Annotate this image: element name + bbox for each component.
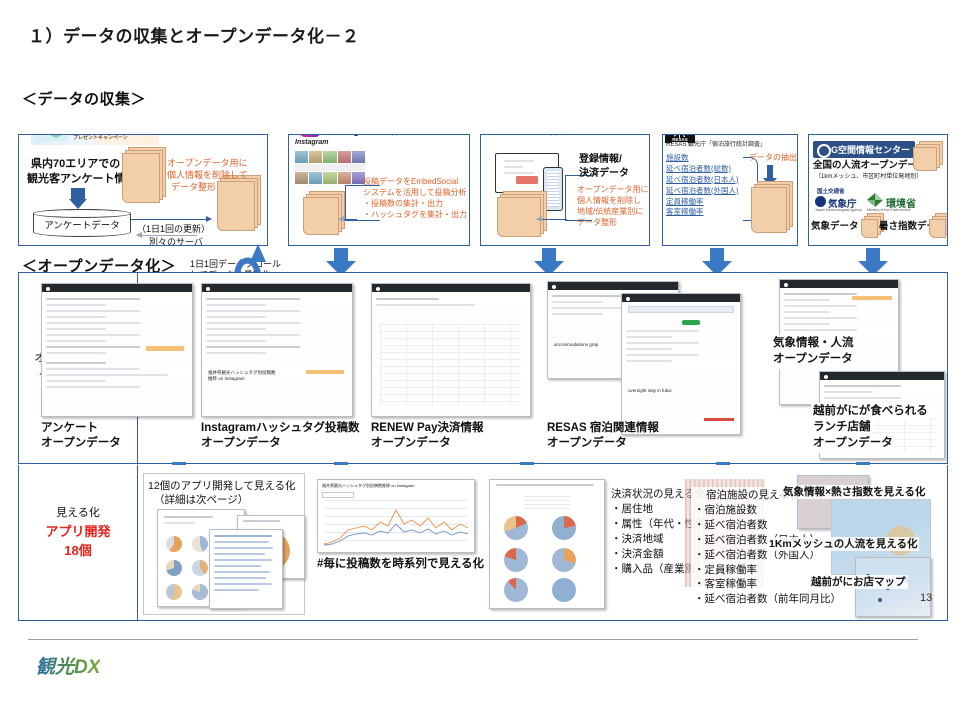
questionnaire-headline-2: 観光客アンケート情報	[27, 172, 137, 187]
arrow-to-instagram-papers	[339, 219, 357, 220]
thumb-table-grid	[380, 324, 520, 406]
vis-weather-caption: 気象情報×熱さ指数を見える化	[781, 485, 927, 499]
opendata-frame: GitHub上に オープンデータ化 データセット 7個 アンケート オープンデー…	[18, 272, 948, 464]
thumb-titlebar	[622, 294, 740, 302]
instagram-icon	[299, 135, 321, 137]
visualization-label-count: 18個	[8, 541, 148, 561]
vis-payment-pie-5	[504, 578, 528, 602]
dataset-caption-weather-2: オープンデータ	[771, 351, 855, 369]
resas-item-list: 施設数 延べ宿泊者数(総数) 延べ宿泊者数(日本人) 延べ宿泊者数(外国人) 定…	[666, 153, 739, 218]
arrow-head-to-db	[69, 199, 87, 209]
app-pie-3	[166, 560, 182, 576]
renewpay-process-3: 地域/伝統産業別に	[577, 207, 643, 218]
moe-logo-icon	[867, 193, 883, 207]
app-thumb-lines	[214, 535, 278, 595]
resas-extract-note: データの抽出	[749, 153, 797, 164]
paper-stack-2	[217, 181, 253, 229]
dataset-caption-renewpay-1: RENEW Pay決済情報	[371, 421, 483, 437]
visualization-label-highlight: アプリ開発	[8, 522, 148, 542]
collection-row: 植えて HAPPINESS プレゼントキャンペーン 県内70エリアでの 観光客ア…	[18, 108, 946, 246]
resas-item-0[interactable]: 施設数	[666, 153, 739, 164]
thumb-titlebar	[548, 282, 678, 290]
server-note: 別々のサーバ	[149, 236, 203, 245]
dataset-caption-renewpay-2: オープンデータ	[371, 436, 451, 452]
dataset-caption-crab-3: オープンデータ	[811, 435, 895, 453]
app-pie-1	[166, 536, 182, 552]
visualization-label-line1: 見える化	[8, 505, 148, 522]
thumb-titlebar	[780, 280, 898, 288]
apps-note-line2: （詳細は次ページ）	[154, 493, 248, 507]
source-box-instagram: #わたしの好きな福井県 Instagram 投稿キャンペーン Instagram	[288, 134, 470, 246]
app-pie-2	[192, 536, 208, 552]
renewpay-process-2: 個人情報を削除し	[577, 196, 641, 207]
thumb-lines	[206, 298, 348, 358]
resas-source-note: RESAS 観光庁「宿泊旅行統計調査」	[666, 141, 766, 149]
slide-canvas: １）データの収集とオープンデータ化－２ ＜データの収集＞ 植えて HAPPINE…	[0, 0, 959, 715]
vis-lodging-item-6: ・延べ宿泊者数（前年同月比）	[694, 592, 841, 607]
thumb-body	[622, 302, 740, 434]
gspace-banner: G空間情報センター	[813, 141, 915, 158]
vis-payment-pie-3	[504, 548, 528, 572]
jma-logo-icon	[815, 196, 826, 207]
dataset-caption-resas-2: オープンデータ	[547, 436, 627, 452]
process-note-line2: 個人情報を削除して	[167, 169, 248, 181]
arrow-to-renewpay-papers	[537, 219, 567, 220]
gspace-line2: （1kmメッシュ、市区町村単位発地別）	[815, 173, 922, 181]
app-thumb-lines	[243, 520, 299, 526]
vis-thumb-payment[interactable]	[489, 479, 605, 609]
renewpay-logo-sub: Powered by ふくアプリ	[529, 135, 577, 137]
banner-subtitle: プレゼントキャンペーン	[73, 135, 128, 141]
app-thumb-lines	[164, 516, 238, 528]
vis-payment-pie-6	[552, 578, 576, 602]
renewpay-data-2: 決済データ	[579, 167, 629, 181]
resas-item-4[interactable]: 定員稼働率	[666, 197, 739, 208]
thumb-lines	[376, 298, 526, 310]
vis-thumb-instagram-timeseries[interactable]: 福井県観光ハッシュタグ別投稿数推移 on Instagram	[317, 479, 475, 553]
paper-stack-renewpay	[497, 197, 539, 235]
instagram-process-1: 投稿データをEmbedSocial	[363, 177, 458, 188]
jma-ministry-name: 国土交通省	[817, 187, 845, 195]
dataset-caption-crab-1: 越前がにが食べられる	[811, 403, 930, 421]
vis-mesh-caption: 1Kmメッシュの人流を見える化	[767, 537, 919, 551]
instagram-process-3: ・投稿数の集計・出力	[363, 199, 443, 210]
dataset-caption-resas-1: RESAS 宿泊関連情報	[547, 421, 659, 437]
renewpay-process-4: データ整形	[577, 218, 617, 229]
instagram-process-4: ・ハッシュタグを集計・出力	[363, 210, 467, 221]
thumb-titlebar	[42, 284, 192, 292]
thumb-lines	[626, 330, 736, 366]
visualization-frame: 見える化 アプリ開発 18個 12個のアプリ開発して見える化 （詳細は次ページ）	[18, 465, 948, 621]
happiness-banner: 植えて HAPPINESS プレゼントキャンペーン	[31, 135, 159, 145]
dataset-caption-instagram-1: Instagramハッシュタグ投稿数	[201, 421, 359, 437]
moe-sub: Ministry of the Environment	[867, 208, 911, 212]
update-note: （1日1回の更新）	[137, 223, 210, 235]
resas-item-1[interactable]: 延べ宿泊者数(総数)	[666, 164, 739, 175]
instagram-photo-strip-2	[295, 164, 365, 171]
source-box-resas: RESAS 宿泊関連情報 RESAS 観光庁「宿泊旅行統計調査」 施設数 延べ宿…	[662, 134, 798, 246]
instagram-thumb-title: 福井県観光ハッシュタグ別投稿数推移 on Instagram	[208, 370, 278, 382]
vis-crab-caption: 越前がにお店マップ	[809, 575, 908, 589]
questionnaire-headline-1: 県内70エリアでの	[31, 157, 120, 172]
vis-payment-pie-4	[552, 548, 576, 572]
paper-stack-gspace	[913, 147, 935, 169]
visualization-left-label: 見える化 アプリ開発 18個	[8, 505, 148, 561]
dataset-caption-weather-1: 気象情報・人流	[771, 335, 856, 353]
renewpay-process-1: オープンデータ用に	[577, 185, 649, 196]
vis-payment-pie-1	[504, 516, 528, 540]
apps-note-line1: 12個のアプリ開発して見える化	[148, 479, 296, 493]
app-pie-4	[192, 560, 208, 576]
resas-item-3[interactable]: 延べ宿泊者数(外国人)	[666, 186, 739, 197]
resas-thumb-title-2: overnight stay in fukui	[628, 388, 672, 394]
dataset-thumb-renewpay[interactable]	[371, 283, 531, 417]
brand-logo: 観光DX	[36, 652, 100, 679]
thumb-titlebar	[820, 372, 944, 380]
weather-data-caption: 気象データ	[811, 221, 859, 234]
paper-stack-instagram	[303, 197, 337, 233]
app-pie-6	[192, 584, 208, 600]
gspace-line1: 全国の人流オープンデータ	[813, 160, 926, 173]
paper-stack-weather	[861, 219, 876, 236]
renewpay-data-1: 登録情報/	[579, 153, 622, 167]
jma-sub: Japan Meteorological Agency	[815, 208, 862, 212]
instagram-process-2: システムを活用して投稿分析	[363, 188, 467, 199]
page-number: 13	[920, 592, 932, 604]
questionnaire-database-label: アンケートデータ	[34, 217, 130, 231]
dataset-thumb-instagram[interactable]: 福井県観光ハッシュタグ別投稿数推移 on Instagram	[201, 283, 353, 417]
dataset-caption-instagram-2: オープンデータ	[201, 436, 281, 452]
paper-stack-resas	[751, 187, 785, 231]
process-note-line3: データ整形	[171, 181, 216, 193]
paper-stack-1	[122, 153, 158, 201]
vis-instagram-thumb-title: 福井県観光ハッシュタグ別投稿数推移 on Instagram	[322, 483, 414, 488]
resas-item-2[interactable]: 延べ宿泊者数(日本人)	[666, 175, 739, 186]
resas-item-5[interactable]: 客室稼働率	[666, 207, 739, 218]
vis-payment-pie-2	[552, 516, 576, 540]
questionnaire-database: アンケートデータ	[33, 209, 131, 237]
instagram-photo-strip-1	[295, 151, 365, 163]
section-heading-collection: ＜データの収集＞	[22, 88, 146, 109]
dataset-caption-questionnaire-2: オープンデータ	[41, 436, 121, 452]
resas-arrow-stem	[767, 165, 773, 179]
vis-payment-lines	[496, 484, 598, 490]
thumb-lines-2	[46, 362, 188, 392]
process-note-line1: オープンデータ用に	[167, 157, 247, 169]
instagram-title-2: Instagram 投稿キャンペーン	[331, 135, 455, 139]
dataset-caption-crab-2: ランチ店舗	[811, 419, 873, 437]
source-box-others: その他 G空間情報センター 全国の人流オープンデータ （1kmメッシュ、市区町村…	[808, 134, 948, 246]
arrow-update-right	[131, 219, 211, 220]
dataset-thumb-resas-front[interactable]: overnight stay in fukui	[621, 293, 741, 435]
paper-stack-heat	[929, 219, 944, 236]
source-box-renewpay: RENEW Pay Powered by ふくアプリ 登録情報/	[480, 134, 650, 246]
page-title: １）データの収集とオープンデータ化－２	[28, 22, 359, 47]
instagram-wordmark: Instagram	[295, 139, 328, 146]
app-thumb-list[interactable]	[209, 529, 283, 609]
thumb-titlebar	[202, 284, 352, 292]
vis-instagram-caption: #毎に投稿数を時系列で見える化	[317, 557, 484, 573]
app-pie-5	[166, 584, 182, 600]
resas-thumb-title: accommodations grap	[554, 342, 598, 348]
dataset-caption-questionnaire-1: アンケート	[41, 421, 98, 437]
instagram-photo-strip-3	[295, 172, 365, 184]
dataset-thumb-questionnaire[interactable]	[41, 283, 193, 417]
thumb-titlebar	[372, 284, 530, 292]
footer-divider	[28, 639, 918, 640]
vis-instagram-chart	[324, 500, 468, 546]
landscape-illustration-icon	[35, 135, 69, 141]
